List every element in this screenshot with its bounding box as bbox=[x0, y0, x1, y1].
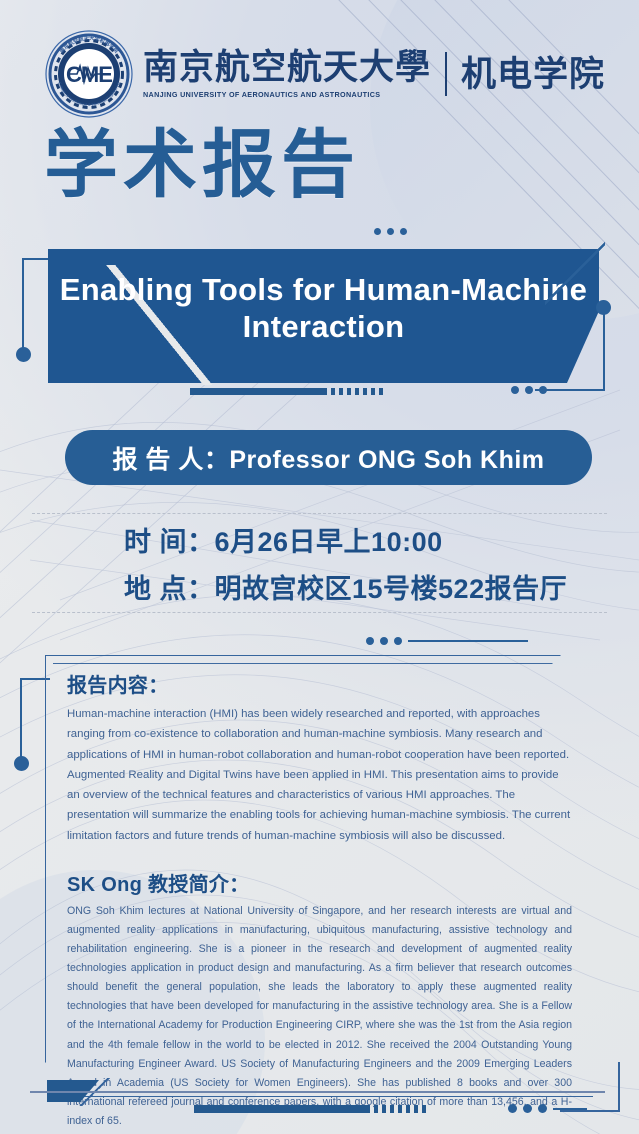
bio-text: ONG Soh Khim lectures at National Univer… bbox=[67, 902, 572, 1131]
category-title: 学术报告 bbox=[44, 128, 360, 202]
university-name-cn: 南京航空航天大學 bbox=[143, 50, 431, 85]
dot-decoration-banner-right bbox=[511, 386, 579, 394]
place-line: 地 点：明故宫校区15号楼522报告厅 bbox=[124, 567, 607, 606]
talk-title: Enabling Tools for Human-Machine Interac… bbox=[48, 249, 599, 369]
abstract-heading: 报告内容： bbox=[67, 669, 572, 698]
poster-header: CME 南京航空航天大学机电学院 College of Mechanical &… bbox=[0, 28, 639, 120]
time-line: 时 间：6月26日早上10:00 bbox=[124, 520, 607, 559]
university-identity: 南京航空航天大學 NANJING UNIVERSITY OF AERONAUTI… bbox=[143, 50, 605, 99]
talk-title-banner: Enabling Tools for Human-Machine Interac… bbox=[48, 249, 599, 383]
content-box: 报告内容： Human-machine interaction (HMI) ha… bbox=[45, 655, 593, 1095]
divider bbox=[445, 52, 447, 96]
abstract-text: Human-machine interaction (HMI) has been… bbox=[67, 704, 572, 846]
university-name-en: NANJING UNIVERSITY OF AERONAUTICS AND AS… bbox=[143, 90, 431, 99]
dot-decoration-content bbox=[366, 637, 528, 645]
dot-decoration-top bbox=[374, 228, 407, 235]
segmented-bar-decoration bbox=[190, 388, 383, 395]
bottom-segmented-bar bbox=[194, 1105, 426, 1113]
speaker-pill: 报 告 人：Professor ONG Soh Khim bbox=[65, 430, 592, 485]
bracket-right-decoration bbox=[545, 249, 623, 399]
bottom-dot-decoration bbox=[508, 1104, 587, 1113]
time-place-block: 时 间：6月26日早上10:00 地 点：明故宫校区15号楼522报告厅 bbox=[32, 513, 607, 613]
nuaa-cme-seal-icon: CME 南京航空航天大学机电学院 College of Mechanical &… bbox=[45, 30, 133, 118]
bottom-rule bbox=[30, 1091, 605, 1093]
school-name-cn: 机电学院 bbox=[461, 57, 605, 92]
poster-canvas: CME 南京航空航天大学机电学院 College of Mechanical &… bbox=[0, 0, 639, 1134]
bio-heading: SK Ong 教授简介： bbox=[67, 868, 572, 897]
